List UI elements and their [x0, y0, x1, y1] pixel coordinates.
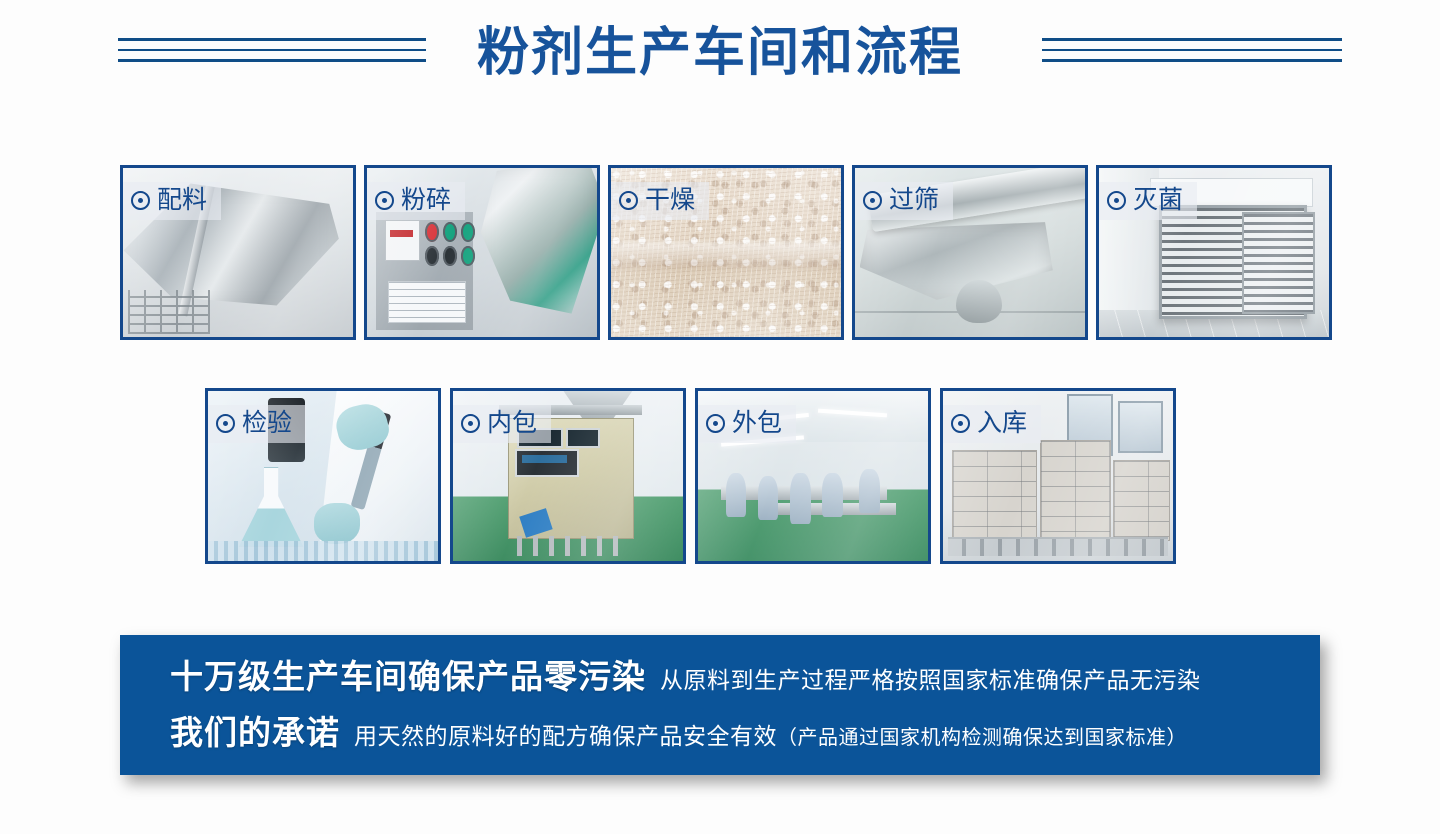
- process-label-text: 外包: [732, 408, 782, 438]
- banner-headline-2: 我们的承诺: [170, 713, 340, 753]
- process-card-guoshai[interactable]: 过筛: [852, 165, 1088, 340]
- banner-note-2: （产品通过国家机构检测确保达到国家标准）: [777, 721, 1187, 750]
- powder-production-process-page: 粉剂生产车间和流程 配料: [0, 0, 1440, 834]
- process-card-label: 检验: [208, 405, 306, 443]
- process-label-text: 内包: [487, 408, 537, 438]
- process-card-label: 内包: [453, 405, 551, 443]
- process-row-1: 配料 粉碎 干燥: [120, 165, 1332, 340]
- header-rule-right: [1042, 38, 1342, 62]
- process-card-peiliao[interactable]: 配料: [120, 165, 356, 340]
- process-card-neibao[interactable]: 内包: [450, 388, 686, 564]
- process-card-ganzao[interactable]: 干燥: [608, 165, 844, 340]
- process-card-label: 灭菌: [1099, 182, 1197, 220]
- page-header: 粉剂生产车间和流程: [0, 0, 1440, 110]
- process-card-ruku[interactable]: 入库: [940, 388, 1176, 564]
- rule-line: [1042, 59, 1342, 62]
- circle-dot-icon: [461, 414, 480, 433]
- circle-dot-icon: [216, 414, 235, 433]
- circle-dot-icon: [951, 414, 970, 433]
- circle-dot-icon: [706, 414, 725, 433]
- rule-line: [1042, 38, 1342, 41]
- process-card-label: 配料: [123, 182, 221, 220]
- promise-banner: 十万级生产车间确保产品零污染 从原料到生产过程严格按照国家标准确保产品无污染 我…: [120, 635, 1320, 775]
- process-label-text: 检验: [242, 408, 292, 438]
- circle-dot-icon: [1107, 191, 1126, 210]
- banner-line-1: 十万级生产车间确保产品零污染 从原料到生产过程严格按照国家标准确保产品无污染: [170, 657, 1201, 700]
- process-card-label: 外包: [698, 405, 796, 443]
- process-card-fensui[interactable]: 粉碎: [364, 165, 600, 340]
- process-label-text: 粉碎: [401, 185, 451, 215]
- process-card-miejun[interactable]: 灭菌: [1096, 165, 1332, 340]
- process-label-text: 灭菌: [1133, 185, 1183, 215]
- circle-dot-icon: [619, 191, 638, 210]
- banner-line-2: 我们的承诺 用天然的原料好的配方确保产品安全有效 （产品通过国家机构检测确保达到…: [170, 713, 1187, 756]
- rule-line: [1042, 49, 1342, 51]
- banner-headline-1: 十万级生产车间确保产品零污染: [170, 657, 646, 697]
- process-card-label: 粉碎: [367, 182, 465, 220]
- process-card-jianyan[interactable]: 检验: [205, 388, 441, 564]
- banner-subtext-2: 用天然的原料好的配方确保产品安全有效: [354, 716, 777, 756]
- process-row-2: 检验 内包: [205, 388, 1176, 564]
- process-label-text: 配料: [157, 185, 207, 215]
- circle-dot-icon: [131, 191, 150, 210]
- process-card-waibao[interactable]: 外包: [695, 388, 931, 564]
- process-label-text: 过筛: [889, 185, 939, 215]
- circle-dot-icon: [863, 191, 882, 210]
- banner-subtext-1: 从原料到生产过程严格按照国家标准确保产品无污染: [660, 660, 1201, 700]
- process-card-label: 干燥: [611, 182, 709, 220]
- process-card-label: 过筛: [855, 182, 953, 220]
- circle-dot-icon: [375, 191, 394, 210]
- process-label-text: 干燥: [645, 185, 695, 215]
- process-label-text: 入库: [977, 408, 1027, 438]
- process-card-label: 入库: [943, 405, 1041, 443]
